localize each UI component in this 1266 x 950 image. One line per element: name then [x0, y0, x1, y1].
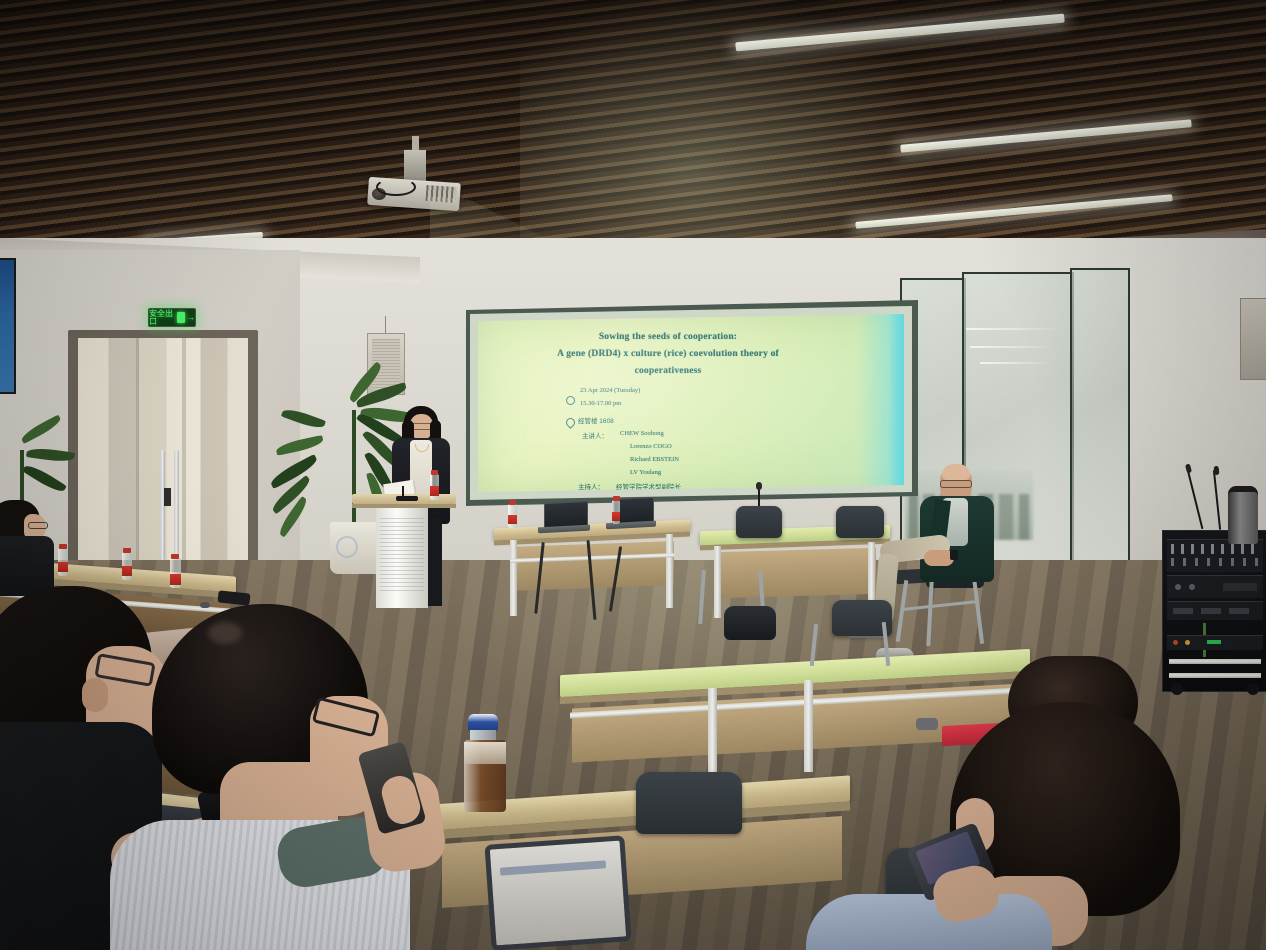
glass-reflection [980, 362, 1052, 364]
panel-mic-head-icon [756, 482, 762, 490]
folding-chair-crossbar [902, 600, 978, 611]
running-man-icon [177, 312, 185, 323]
audience-top [806, 894, 1052, 950]
exit-sign-arrow: → [187, 314, 195, 322]
glass-panel-3 [1070, 268, 1130, 572]
bottle-cap [613, 496, 620, 501]
backpack-on-floor [724, 606, 776, 640]
projection-glow [478, 314, 904, 492]
lectern-vents [380, 518, 424, 592]
rack-player[interactable] [1167, 601, 1263, 620]
rack-amplifier[interactable] [1167, 575, 1263, 598]
projector-cable [376, 178, 416, 196]
projected-slide: Sowing the seeds of cooperation: A gene … [478, 314, 904, 492]
panel-table-leg [714, 546, 721, 618]
presenter-legs [428, 518, 442, 606]
exit-sign-label-left: 安全出口 [149, 310, 175, 326]
audience-ear [82, 678, 108, 712]
seminar-room-photo: 安全出口 → Sowing the seeds of cooperation: … [0, 0, 1266, 950]
bottle-cap [509, 500, 516, 505]
glass-reflection [970, 346, 1056, 348]
lectern-mic-base [396, 496, 418, 501]
audience-hair-crown [208, 622, 242, 644]
front-presenter-table [494, 516, 724, 636]
empty-chair[interactable] [636, 772, 742, 834]
wall-speaker-right-icon [1240, 298, 1266, 380]
panel-table-modesty [716, 548, 876, 598]
rack-mic-head-icon [1214, 466, 1220, 475]
presenter-at-podium [352, 398, 462, 610]
audience-member-bun [830, 646, 1266, 950]
speaker-wire [385, 316, 386, 334]
audience-glasses-icon [28, 522, 48, 529]
bottle-label [508, 515, 517, 524]
exit-sign: 安全出口 → [148, 308, 196, 327]
bottle-label [612, 512, 620, 521]
bottle-cap [431, 470, 438, 475]
glass-reflection [966, 328, 1062, 330]
desk-leg [804, 680, 813, 772]
panelist-bald-highlight [942, 464, 970, 480]
beverage-bottle[interactable] [462, 714, 510, 814]
panelist-glasses-icon [940, 480, 972, 488]
panelist-watch-icon [950, 550, 958, 560]
bottle-label [430, 486, 439, 496]
wall-display-screen[interactable] [0, 258, 16, 394]
projector-mount [404, 150, 426, 182]
desk-leg [708, 688, 717, 784]
table-leg [666, 534, 673, 608]
thermos-flask[interactable] [1228, 492, 1258, 544]
bottle-wrapper [464, 742, 506, 764]
empty-chair[interactable] [736, 506, 782, 538]
